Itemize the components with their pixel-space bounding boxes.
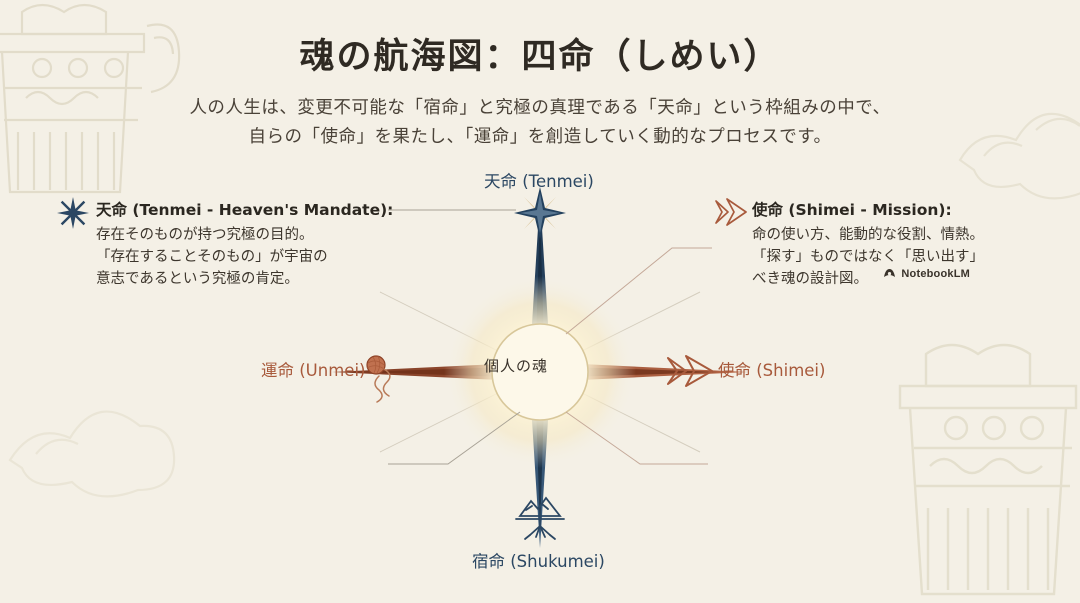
notebooklm-watermark: NotebookLM — [883, 267, 970, 280]
block-tenmei-line-1: 存在そのものが持つ究極の目的。 — [96, 224, 393, 246]
subtitle-line-1: 人の人生は、変更不可能な「宿命」と究極の真理である「天命」という枠組みの中で、 — [0, 94, 1080, 123]
compass-label-north: 天命 (Tenmei) — [484, 168, 594, 192]
block-shimei-line-1: 命の使い方、能動的な役割、情熱。 — [752, 224, 984, 246]
block-shimei-line-2: 「探す」ものではなく「思い出す」 — [752, 246, 984, 268]
page-title: 魂の航海図：四命（しめい） — [0, 36, 1080, 78]
compass-star-icon — [56, 196, 90, 230]
block-tenmei-line-3: 意志であるという究極の肯定。 — [96, 268, 393, 290]
header: 魂の航海図：四命（しめい） 人の人生は、変更不可能な「宿命」と究極の真理である「… — [0, 0, 1080, 152]
block-shimei-heading: 使命 (Shimei - Mission): — [752, 200, 984, 221]
notebooklm-logo-icon — [883, 267, 896, 280]
double-chevron-arrow-icon — [714, 198, 748, 226]
notebooklm-watermark-label: NotebookLM — [901, 268, 970, 280]
block-shimei: 使命 (Shimei - Mission): 命の使い方、能動的な役割、情熱。 … — [752, 200, 984, 290]
four-point-star-icon — [514, 187, 566, 239]
soul-center-label: 個人の魂 — [484, 355, 548, 376]
block-tenmei: 天命 (Tenmei - Heaven's Mandate): 存在そのものが持… — [96, 200, 393, 290]
block-tenmei-heading: 天命 (Tenmei - Heaven's Mandate): — [96, 200, 393, 221]
block-tenmei-line-2: 「存在することそのもの」が宇宙の — [96, 246, 393, 268]
compass-label-west: 運命 (Unmei) — [261, 357, 365, 381]
subtitle-line-2: 自らの「使命」を果たし、「運命」を創造していく動的なプロセスです。 — [0, 123, 1080, 152]
page-subtitle: 人の人生は、変更不可能な「宿命」と究極の真理である「天命」という枠組みの中で、 … — [0, 94, 1080, 152]
compass-label-east: 使命 (Shimei) — [718, 357, 825, 381]
thread-ball-icon — [367, 356, 390, 402]
compass-label-south: 宿命 (Shukumei) — [472, 548, 605, 572]
